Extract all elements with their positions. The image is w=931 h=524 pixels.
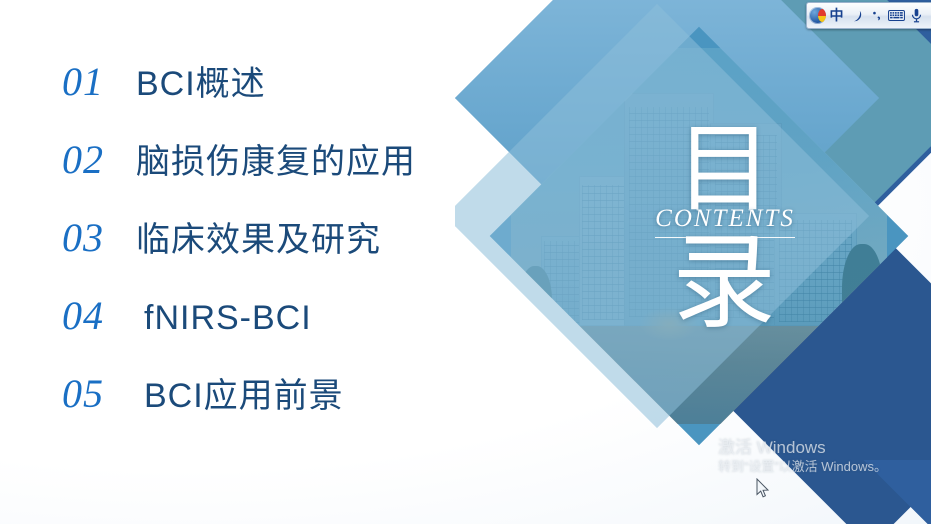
agenda-item-01[interactable]: 01 BCI概述 xyxy=(62,62,532,140)
agenda-item-03[interactable]: 03 临床效果及研究 xyxy=(62,218,532,296)
agenda-number-03: 03 xyxy=(62,218,136,258)
contents-title-lu: 录 xyxy=(615,230,835,334)
agenda-label-01: BCI概述 xyxy=(136,67,266,101)
agenda-item-05[interactable]: 05 BCI应用前景 xyxy=(62,374,532,452)
agenda-item-02[interactable]: 02 脑损伤康复的应用 xyxy=(62,140,532,218)
ime-logo-icon[interactable] xyxy=(809,7,826,24)
agenda-number-02: 02 xyxy=(62,140,136,180)
ime-punctuation-icon[interactable] xyxy=(867,6,886,25)
ime-voice-input-icon[interactable] xyxy=(907,6,926,25)
ime-chinese-mode-icon[interactable]: 中 xyxy=(827,6,846,25)
contents-title-mu: 目 xyxy=(615,125,835,213)
contents-title-block: 目 CONTENTS 录 xyxy=(615,125,835,334)
slide-viewport: 目 CONTENTS 录 01 BCI概述 02 脑损伤康复的应用 03 临床效… xyxy=(0,0,931,524)
agenda-label-04: fNIRS-BCI xyxy=(136,301,312,335)
ime-soft-keyboard-icon[interactable] xyxy=(887,6,906,25)
agenda-number-01: 01 xyxy=(62,62,136,102)
ime-settings-gear-icon[interactable] xyxy=(927,6,931,25)
agenda-list: 01 BCI概述 02 脑损伤康复的应用 03 临床效果及研究 04 fNIRS… xyxy=(62,62,532,452)
agenda-number-04: 04 xyxy=(62,296,136,336)
agenda-item-04[interactable]: 04 fNIRS-BCI xyxy=(62,296,532,374)
ime-halfwidth-moon-icon[interactable] xyxy=(847,6,866,25)
agenda-label-03: 临床效果及研究 xyxy=(136,223,381,257)
ime-floating-toolbar[interactable]: 中 xyxy=(806,2,931,29)
agenda-label-02: 脑损伤康复的应用 xyxy=(136,145,416,179)
agenda-number-05: 05 xyxy=(62,374,136,414)
agenda-label-05: BCI应用前景 xyxy=(136,379,344,413)
corner-wedge-navy xyxy=(861,460,931,524)
